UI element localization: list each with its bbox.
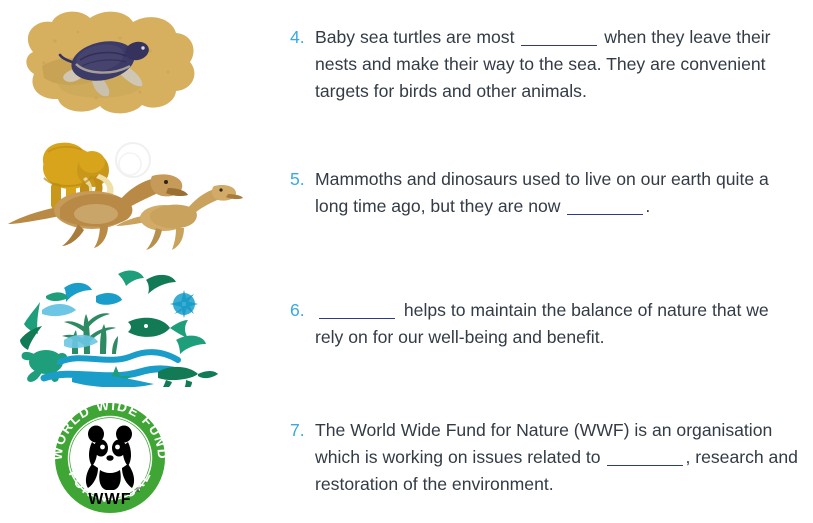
question-text-4-part-a: Baby sea turtles are most (315, 27, 519, 47)
marine-biodiversity-circle-illustration (0, 262, 290, 387)
registered-mark-icon: ® (136, 487, 141, 494)
question-text-4: Baby sea turtles are most when they leav… (315, 24, 801, 105)
answer-blank-4[interactable] (521, 45, 597, 46)
answer-blank-6[interactable] (319, 318, 395, 319)
question-number-6: 6. (290, 297, 315, 324)
question-row-4: 4. Baby sea turtles are most when they l… (0, 6, 813, 126)
text-cell-7: 7. The World Wide Fund for Nature (WWF) … (290, 400, 813, 498)
figure-cell-5 (0, 128, 290, 253)
mammoth-and-dinosaurs-illustration (0, 128, 290, 253)
answer-blank-5[interactable] (567, 214, 643, 215)
background-swirl (116, 143, 150, 177)
marine-collage (20, 271, 218, 387)
question-text-5: Mammoths and dinosaurs used to live on o… (315, 166, 801, 220)
question-row-7: WORLD WIDE FUND FOR NATURE (0, 400, 813, 520)
question-body-4: 4. Baby sea turtles are most when they l… (290, 6, 801, 105)
question-text-5-part-b: . (645, 196, 650, 216)
figure-cell-7: WORLD WIDE FUND FOR NATURE (0, 400, 290, 520)
question-body-5: 5. Mammoths and dinosaurs used to live o… (290, 128, 801, 220)
text-cell-6: 6. helps to maintain the balance of natu… (290, 262, 813, 351)
question-body-7: 7. The World Wide Fund for Nature (WWF) … (290, 400, 801, 498)
figure-cell-4 (0, 6, 290, 126)
text-cell-5: 5. Mammoths and dinosaurs used to live o… (290, 128, 813, 220)
figure-cell-6 (0, 262, 290, 387)
question-number-5: 5. (290, 166, 315, 193)
wwf-logo: WORLD WIDE FUND FOR NATURE (0, 400, 290, 520)
worksheet-page: 4. Baby sea turtles are most when they l… (0, 0, 813, 523)
question-row-5: 5. Mammoths and dinosaurs used to live o… (0, 128, 813, 253)
question-row-6: 6. helps to maintain the balance of natu… (0, 262, 813, 387)
baby-sea-turtle-on-sand-illustration (0, 6, 290, 126)
sea-anemone (170, 290, 198, 318)
question-text-7: The World Wide Fund for Nature (WWF) is … (315, 417, 801, 498)
answer-blank-7[interactable] (607, 465, 683, 466)
coral (62, 313, 118, 354)
question-number-7: 7. (290, 417, 315, 444)
logo-wordmark: WWF (88, 491, 132, 508)
question-text-6-part-a: helps to maintain the balance of nature … (315, 300, 769, 347)
question-text-6: helps to maintain the balance of nature … (315, 297, 801, 351)
question-text-5-part-a: Mammoths and dinosaurs used to live on o… (315, 169, 769, 216)
question-body-6: 6. helps to maintain the balance of natu… (290, 262, 801, 351)
text-cell-4: 4. Baby sea turtles are most when they l… (290, 6, 813, 105)
question-number-4: 4. (290, 24, 315, 51)
